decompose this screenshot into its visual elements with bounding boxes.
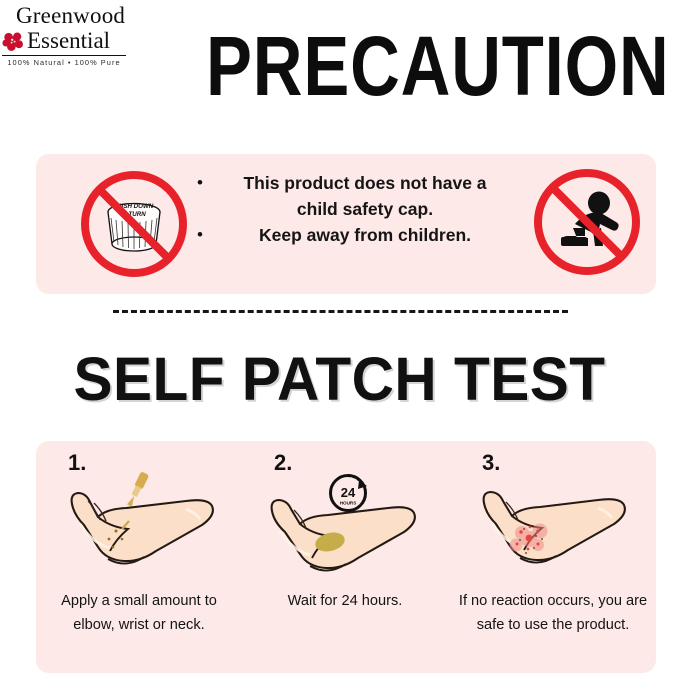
bullet-text: Keep away from children.: [209, 222, 521, 248]
elbow-with-dropper-icon: [36, 469, 242, 574]
list-item: • This product does not have a: [191, 170, 521, 196]
bullet-text: child safety cap.: [209, 196, 521, 222]
elbow-with-rash-icon: [450, 469, 656, 574]
step-2: 2. 24 HOURS Wait for 24 hours.: [242, 441, 448, 673]
no-child-safety-cap-icon: PUSH DOWN & TURN: [78, 168, 190, 280]
brand-name-line1: Greenwood: [2, 4, 128, 27]
page-title-precaution: PRECAUTION: [206, 24, 534, 108]
list-item: child safety cap.: [191, 196, 521, 222]
logo-divider: [2, 55, 126, 56]
step-caption: Wait for 24 hours.: [250, 589, 440, 613]
bullet-marker: •: [191, 222, 209, 248]
bullet-marker: •: [191, 170, 209, 196]
list-item: • Keep away from children.: [191, 222, 521, 248]
warning-bullet-list: • This product does not have a child saf…: [191, 170, 521, 248]
bullet-text: This product does not have a: [209, 170, 521, 196]
brand-logo: Greenwood Essential 100% N: [2, 4, 128, 62]
step-1: 1. Apply a small amount to elbow, wrist …: [36, 441, 242, 673]
brand-name-line2: Essential: [27, 29, 110, 53]
svg-text:HOURS: HOURS: [340, 501, 357, 506]
no-children-icon: [531, 166, 643, 278]
precaution-panel: PUSH DOWN & TURN • This product does not…: [36, 154, 656, 294]
page-title-self-patch-test: SELF PATCH TEST: [14, 346, 666, 412]
step-3: 3. If no: [450, 441, 656, 673]
brand-tagline: 100% Natural • 100% Pure: [2, 58, 126, 67]
timer-badge: 24 HOURS: [331, 476, 368, 511]
svg-text:24: 24: [341, 485, 356, 500]
flower-icon: [2, 30, 24, 52]
step-caption: Apply a small amount to elbow, wrist or …: [44, 589, 234, 637]
elbow-with-24-hour-timer-icon: 24 HOURS: [242, 469, 448, 574]
section-divider: [113, 310, 568, 313]
step-caption: If no reaction occurs, you are safe to u…: [458, 589, 648, 637]
